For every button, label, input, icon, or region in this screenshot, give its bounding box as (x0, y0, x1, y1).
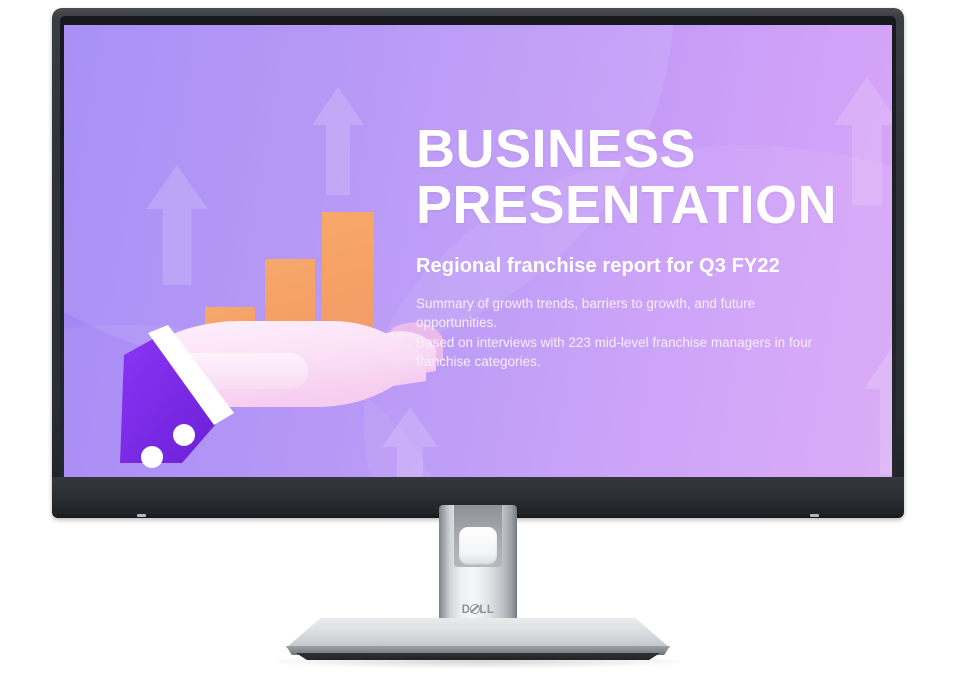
slide-subtitle: Regional franchise report for Q3 FY22 (416, 255, 846, 278)
slide-body-text: Summary of growth trends, barriers to gr… (416, 294, 816, 371)
dell-logo-letter-d: D (462, 604, 471, 616)
dell-brand-logo: DLL (439, 604, 517, 616)
dell-logo-letters-ll: LL (479, 604, 494, 616)
page-title: BUSINESS PRESENTATION (416, 121, 846, 233)
dell-logo-e-ring (470, 604, 480, 614)
slide-title-line-1: BUSINESS (416, 119, 696, 179)
power-led-indicator-right (810, 514, 819, 517)
sleeve-button-1 (173, 424, 195, 446)
slide-text-block: BUSINESS PRESENTATION Regional franchise… (416, 121, 846, 371)
slide-body-line-2: Based on interviews with 223 mid-level f… (416, 335, 812, 350)
slide-title-line-2: PRESENTATION (416, 175, 837, 235)
monitor-screen[interactable]: BUSINESS PRESENTATION Regional franchise… (64, 25, 892, 477)
arrow-up-right-lower (864, 345, 892, 475)
arrow-head (834, 77, 892, 125)
stand-base-top-surface (286, 618, 670, 648)
open-hand-graphic (64, 25, 444, 477)
monitor-drop-shadow (276, 655, 680, 668)
sleeve-button-2 (141, 446, 163, 468)
slide-body-line-1: Summary of growth trends, barriers to gr… (416, 296, 755, 330)
arrow-stem (852, 125, 882, 205)
hand-holding-chart-illustration (64, 25, 444, 477)
arrow-stem (880, 389, 892, 475)
presentation-slide: BUSINESS PRESENTATION Regional franchise… (64, 25, 892, 477)
stand-cable-hole (459, 527, 497, 565)
slide-body-line-3: franchise categories. (416, 354, 541, 369)
screenshot-stage: BUSINESS PRESENTATION Regional franchise… (0, 0, 956, 700)
monitor-stand-base (286, 618, 670, 658)
arrow-head (864, 345, 892, 389)
power-led-indicator (137, 514, 146, 517)
